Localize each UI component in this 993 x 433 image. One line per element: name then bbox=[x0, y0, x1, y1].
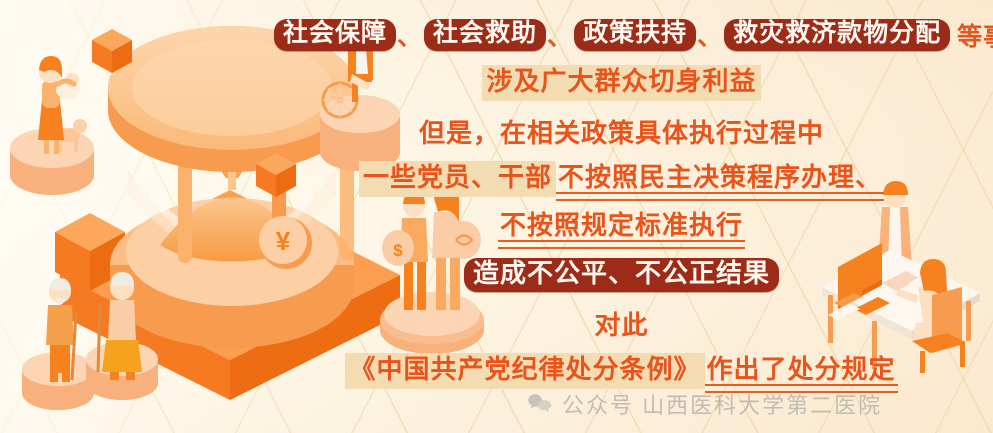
text-line-3: 但是，在相关政策具体执行过程中 bbox=[250, 107, 993, 155]
highlight-public-interest: 涉及广大群众切身利益 bbox=[482, 65, 760, 100]
text-line-8: 《中国共产党纪律处分条例》 作出了处分规定 bbox=[250, 347, 993, 395]
underline-not-democratic-process: 不按照民主决策程序办理、 bbox=[556, 157, 884, 201]
underline-not-per-standard: 不按照规定标准执行 bbox=[498, 205, 745, 249]
text-line-1: 社会保障 、 社会救助 、 政策扶持 、 救灾救济款物分配 等事项 bbox=[250, 11, 993, 59]
plain-regarding-this: 对此 bbox=[594, 305, 648, 342]
pill-unfair-result: 造成不公平、不公正结果 bbox=[464, 258, 779, 291]
text-line-5: 不按照规定标准执行 bbox=[250, 203, 993, 251]
highlight-some-members-cadres: 一些党员、干部 bbox=[359, 161, 556, 196]
suffix-other-matters: 等事项 bbox=[950, 17, 993, 53]
infographic-banner: ¥ bbox=[0, 0, 993, 433]
separator-2: 、 bbox=[546, 17, 574, 53]
separator-3: 、 bbox=[696, 17, 724, 53]
text-line-2: 涉及广大群众切身利益 bbox=[250, 59, 993, 107]
text-content: 社会保障 、 社会救助 、 政策扶持 、 救灾救济款物分配 等事项 涉及广大群众… bbox=[250, 0, 993, 433]
pill-disaster-relief-funds: 救灾救济款物分配 bbox=[724, 19, 950, 51]
text-line-4: 一些党员、干部 不按照民主决策程序办理、 bbox=[250, 155, 993, 203]
pill-policy-support: 政策扶持 bbox=[574, 19, 696, 51]
pill-social-assistance: 社会救助 bbox=[424, 19, 546, 51]
pill-social-security: 社会保障 bbox=[274, 19, 396, 51]
plain-however-clause: 但是，在相关政策具体执行过程中 bbox=[419, 113, 824, 150]
text-line-7: 对此 bbox=[250, 299, 993, 347]
underline-punishment-provisions: 作出了处分规定 bbox=[705, 349, 898, 393]
text-line-6: 造成不公平、不公正结果 bbox=[250, 251, 993, 299]
mother-with-baby-figure bbox=[10, 56, 94, 195]
separator-1: 、 bbox=[396, 17, 424, 53]
highlight-regulation-title: 《中国共产党纪律处分条例》 bbox=[345, 353, 704, 388]
